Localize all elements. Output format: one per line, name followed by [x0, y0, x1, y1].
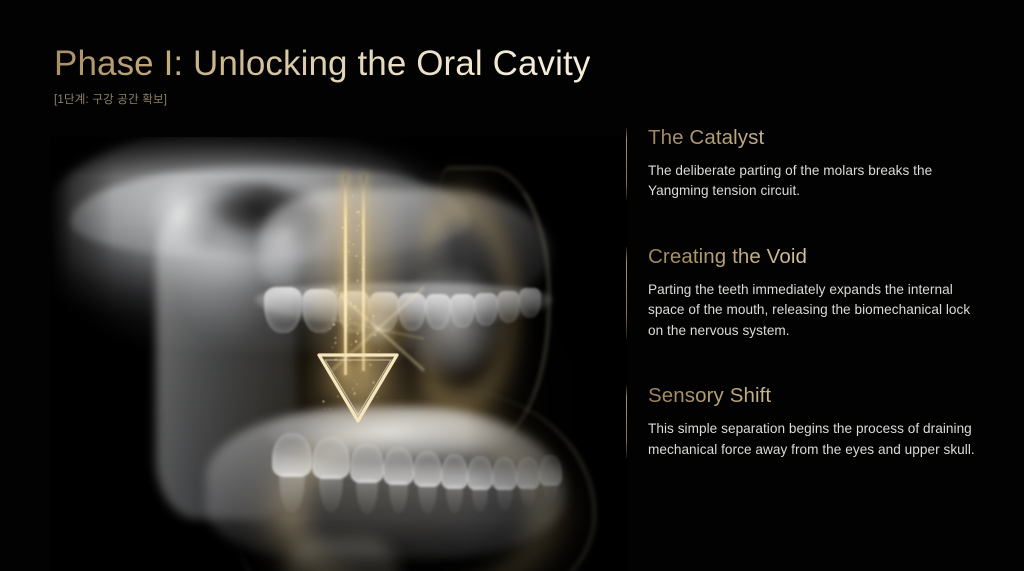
upper-tooth	[264, 287, 302, 333]
accent-bar	[626, 386, 627, 458]
slide-header: Phase I: Unlocking the Oral Cavity [1단계:…	[54, 44, 590, 107]
arrow-particle	[346, 324, 349, 327]
page-subtitle: [1단계: 구강 공간 확보]	[54, 91, 590, 107]
slide-root: Phase I: Unlocking the Oral Cavity [1단계:…	[0, 0, 1024, 571]
accent-bar	[626, 128, 627, 200]
arrow-particle	[348, 241, 350, 243]
content-block-catalyst: The Catalyst The deliberate parting of t…	[626, 126, 978, 202]
arrow-particle	[361, 221, 364, 224]
arrow-particle	[346, 234, 348, 236]
block-heading: Sensory Shift	[648, 384, 978, 409]
arrow-particle	[352, 204, 353, 205]
arrow-particle	[347, 250, 350, 253]
arrow-particle	[352, 243, 355, 246]
lower-tooth	[467, 456, 493, 490]
downward-force-arrow	[300, 175, 420, 475]
arrow-particle	[362, 328, 365, 331]
arrow-particle	[332, 323, 335, 326]
upper-tooth	[450, 294, 475, 328]
block-body: This simple separation begins the proces…	[648, 419, 978, 460]
block-body: The deliberate parting of the molars bre…	[648, 161, 978, 202]
arrow-particle	[355, 255, 358, 258]
accent-bar	[626, 247, 627, 340]
block-heading: The Catalyst	[648, 126, 978, 151]
upper-tooth	[474, 293, 498, 326]
arrow-particle	[361, 268, 364, 271]
upper-tooth	[519, 288, 541, 318]
page-title: Phase I: Unlocking the Oral Cavity	[54, 44, 590, 84]
arrow-particle	[372, 315, 374, 317]
neck-shape	[282, 539, 402, 571]
upper-tooth	[497, 291, 520, 323]
arrow-particle	[358, 214, 361, 217]
arrow-particle	[352, 195, 353, 196]
skull-illustration	[50, 137, 628, 571]
upper-tooth	[425, 294, 451, 330]
arrow-particle	[356, 229, 359, 232]
arrow-head	[316, 351, 400, 425]
arrow-particle	[355, 211, 358, 214]
arrow-particle	[347, 216, 348, 217]
content-panel: The Catalyst The deliberate parting of t…	[626, 126, 978, 460]
arrow-particle	[345, 271, 348, 274]
content-block-creating-the-void: Creating the Void Parting the teeth imme…	[626, 245, 978, 342]
arrow-particle	[349, 302, 352, 305]
block-body: Parting the teeth immediately expands th…	[648, 280, 978, 342]
content-block-sensory-shift: Sensory Shift This simple separation beg…	[626, 384, 978, 460]
arrow-head-triangle	[316, 351, 400, 425]
lower-tooth	[441, 454, 468, 489]
arrow-particle	[340, 291, 343, 294]
skull-illustration-stage	[50, 137, 628, 571]
block-heading: Creating the Void	[648, 245, 978, 270]
